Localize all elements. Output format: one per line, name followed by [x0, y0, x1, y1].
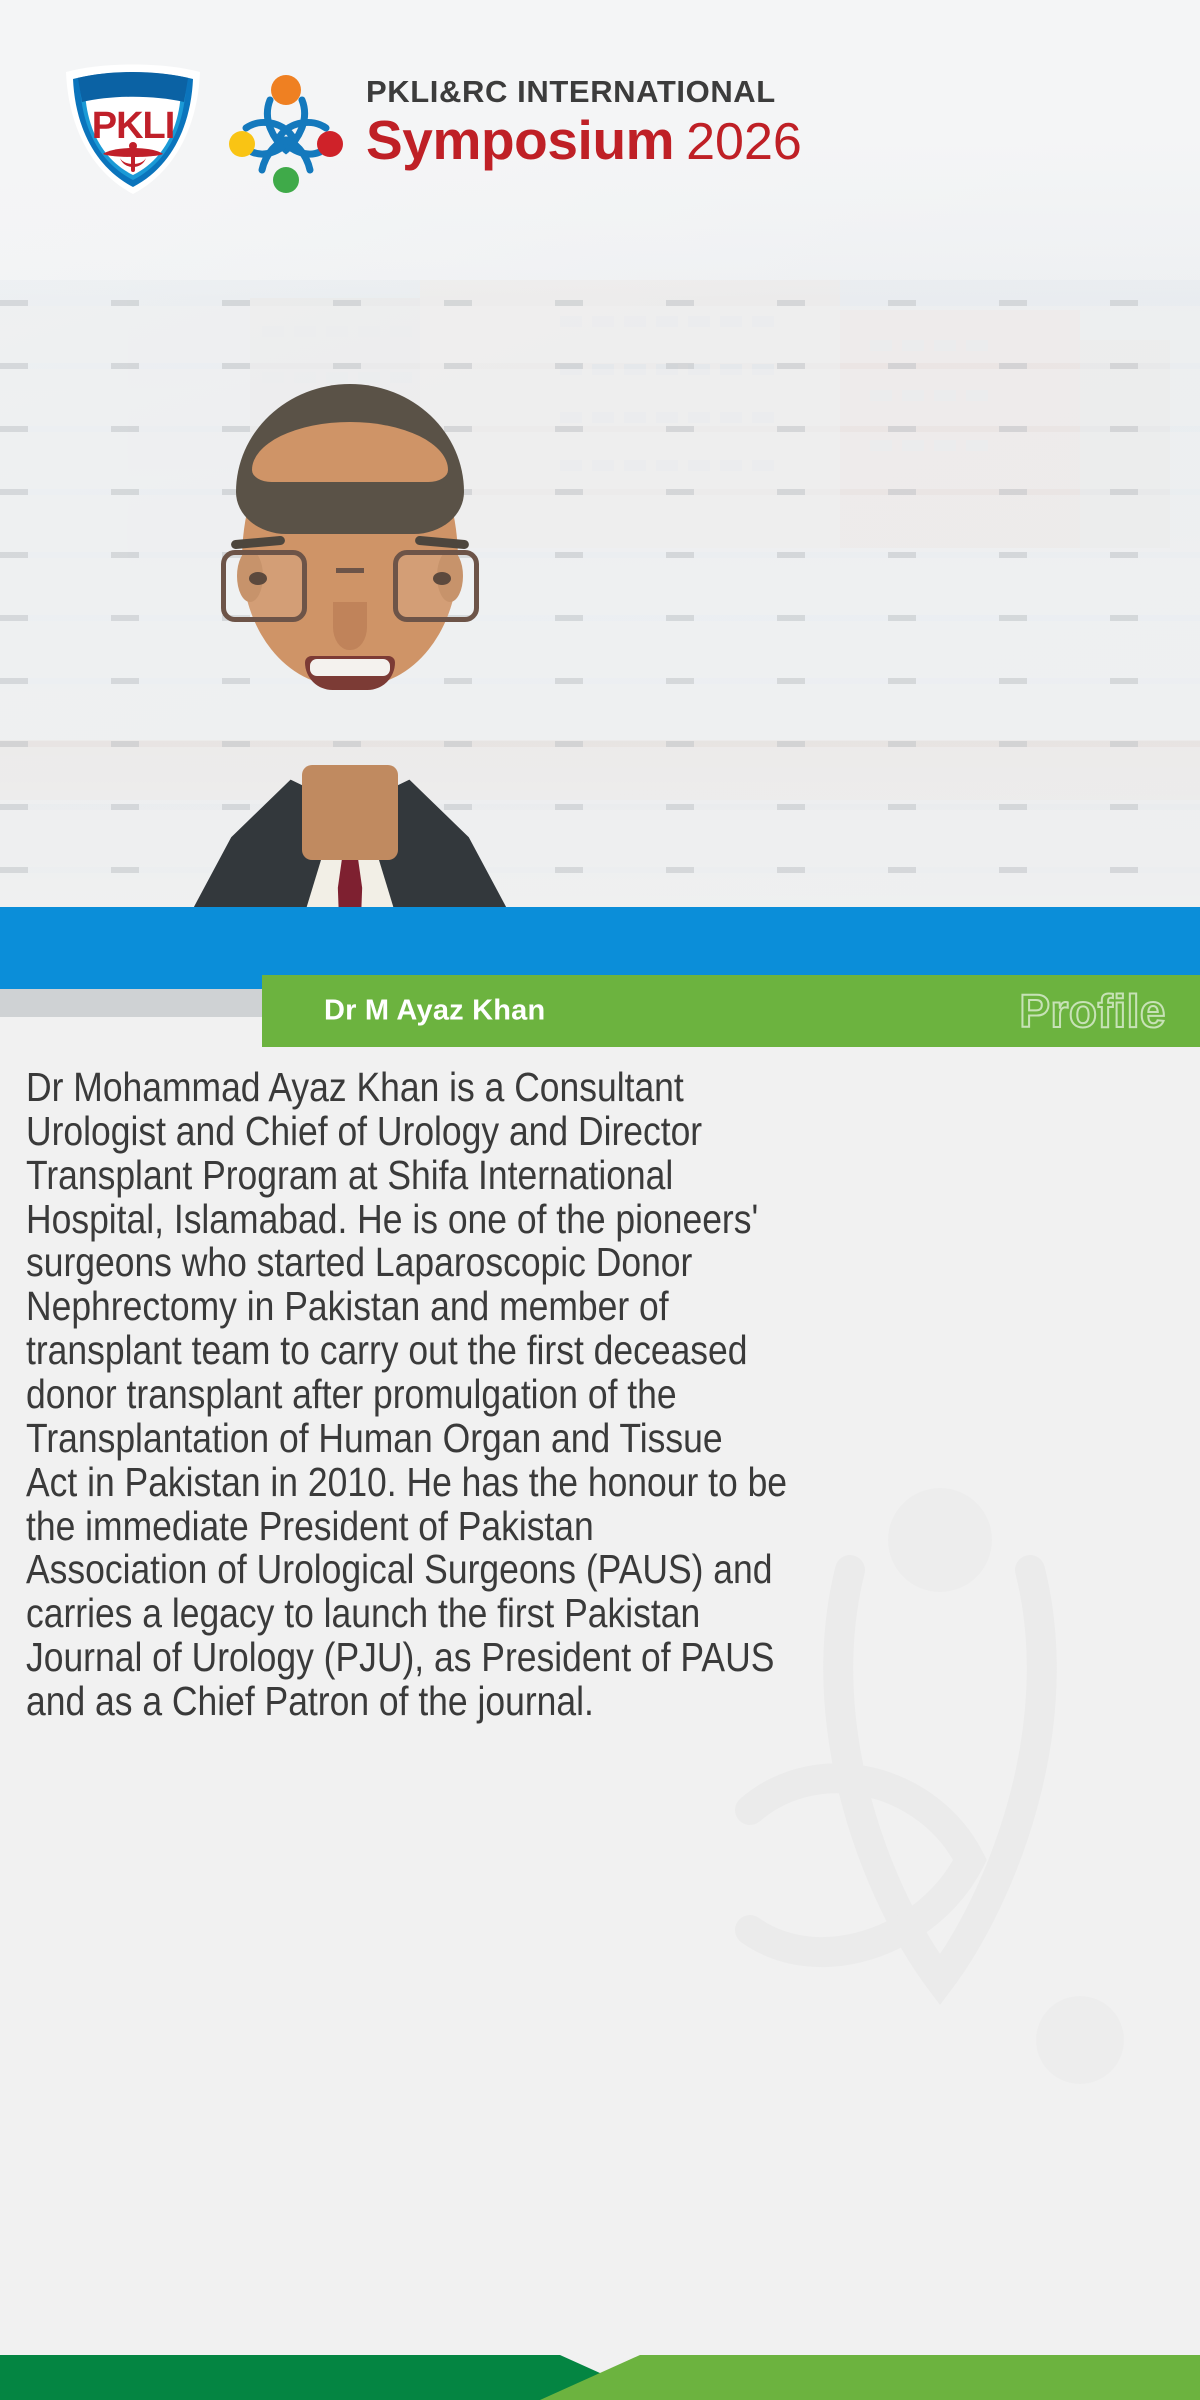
- bio-line: transplant team to carry out the first d…: [26, 1329, 1174, 1373]
- bio-line: the immediate President of Pakistan: [26, 1505, 1174, 1549]
- bio-line: Association of Urological Surgeons (PAUS…: [26, 1548, 1174, 1592]
- portrait-teeth: [310, 659, 390, 676]
- bio-line: Dr Mohammad Ayaz Khan is a Consultant: [26, 1066, 1174, 1110]
- title-symposium: Symposium: [366, 109, 674, 171]
- bio-line: surgeons who started Laparoscopic Donor: [26, 1241, 1174, 1285]
- portrait-nose: [333, 602, 367, 650]
- title-top-line: PKLI&RC INTERNATIONAL: [366, 76, 802, 107]
- bio-line: Nephrectomy in Pakistan and member of: [26, 1285, 1174, 1329]
- title-main-line: Symposium2026: [366, 113, 802, 168]
- name-banner: Dr M Ayaz Khan Profile: [262, 975, 1200, 1047]
- bio-paragraph: Dr Mohammad Ayaz Khan is a Consultant Ur…: [26, 1066, 1174, 1724]
- portrait-glasses-bridge: [336, 568, 364, 573]
- bio-line: Act in Pakistan in 2010. He has the hono…: [26, 1461, 1174, 1505]
- bio-line: Transplantation of Human Organ and Tissu…: [26, 1417, 1174, 1461]
- bio-line: Urologist and Chief of Urology and Direc…: [26, 1110, 1174, 1154]
- bio-line: Hospital, Islamabad. He is one of the pi…: [26, 1198, 1174, 1242]
- section-label-profile: Profile: [1019, 984, 1166, 1038]
- bio-line: carries a legacy to launch the first Pak…: [26, 1592, 1174, 1636]
- bio-line: Transplant Program at Shifa Internationa…: [26, 1154, 1174, 1198]
- profile-poster: PKLI: [0, 0, 1200, 2400]
- speaker-name: Dr M Ayaz Khan: [324, 995, 545, 1028]
- bio-line: Journal of Urology (PJU), as President o…: [26, 1636, 1174, 1680]
- portrait-neck: [302, 765, 398, 860]
- portrait-glasses-left: [221, 550, 307, 622]
- pkli-shield-icon[interactable]: PKLI: [58, 62, 208, 198]
- svg-text:PKLI: PKLI: [92, 105, 175, 147]
- dash-pattern-overlay: [0, 300, 1200, 940]
- symposium-title-block: PKLI&RC INTERNATIONAL Symposium2026: [366, 76, 802, 168]
- footer-right-light-green: [540, 2355, 1200, 2400]
- footer-bar: [0, 2355, 1200, 2400]
- bio-line: and as a Chief Patron of the journal.: [26, 1680, 1174, 1724]
- title-year: 2026: [686, 113, 802, 171]
- portrait-hair: [236, 384, 464, 534]
- header-logo-bar: PKLI: [0, 60, 1200, 195]
- symposium-petal-icon[interactable]: [222, 66, 350, 194]
- bio-line: donor transplant after promulgation of t…: [26, 1373, 1174, 1417]
- speaker-portrait: [185, 250, 515, 1010]
- portrait-glasses-right: [393, 550, 479, 622]
- portrait-mouth: [305, 656, 395, 690]
